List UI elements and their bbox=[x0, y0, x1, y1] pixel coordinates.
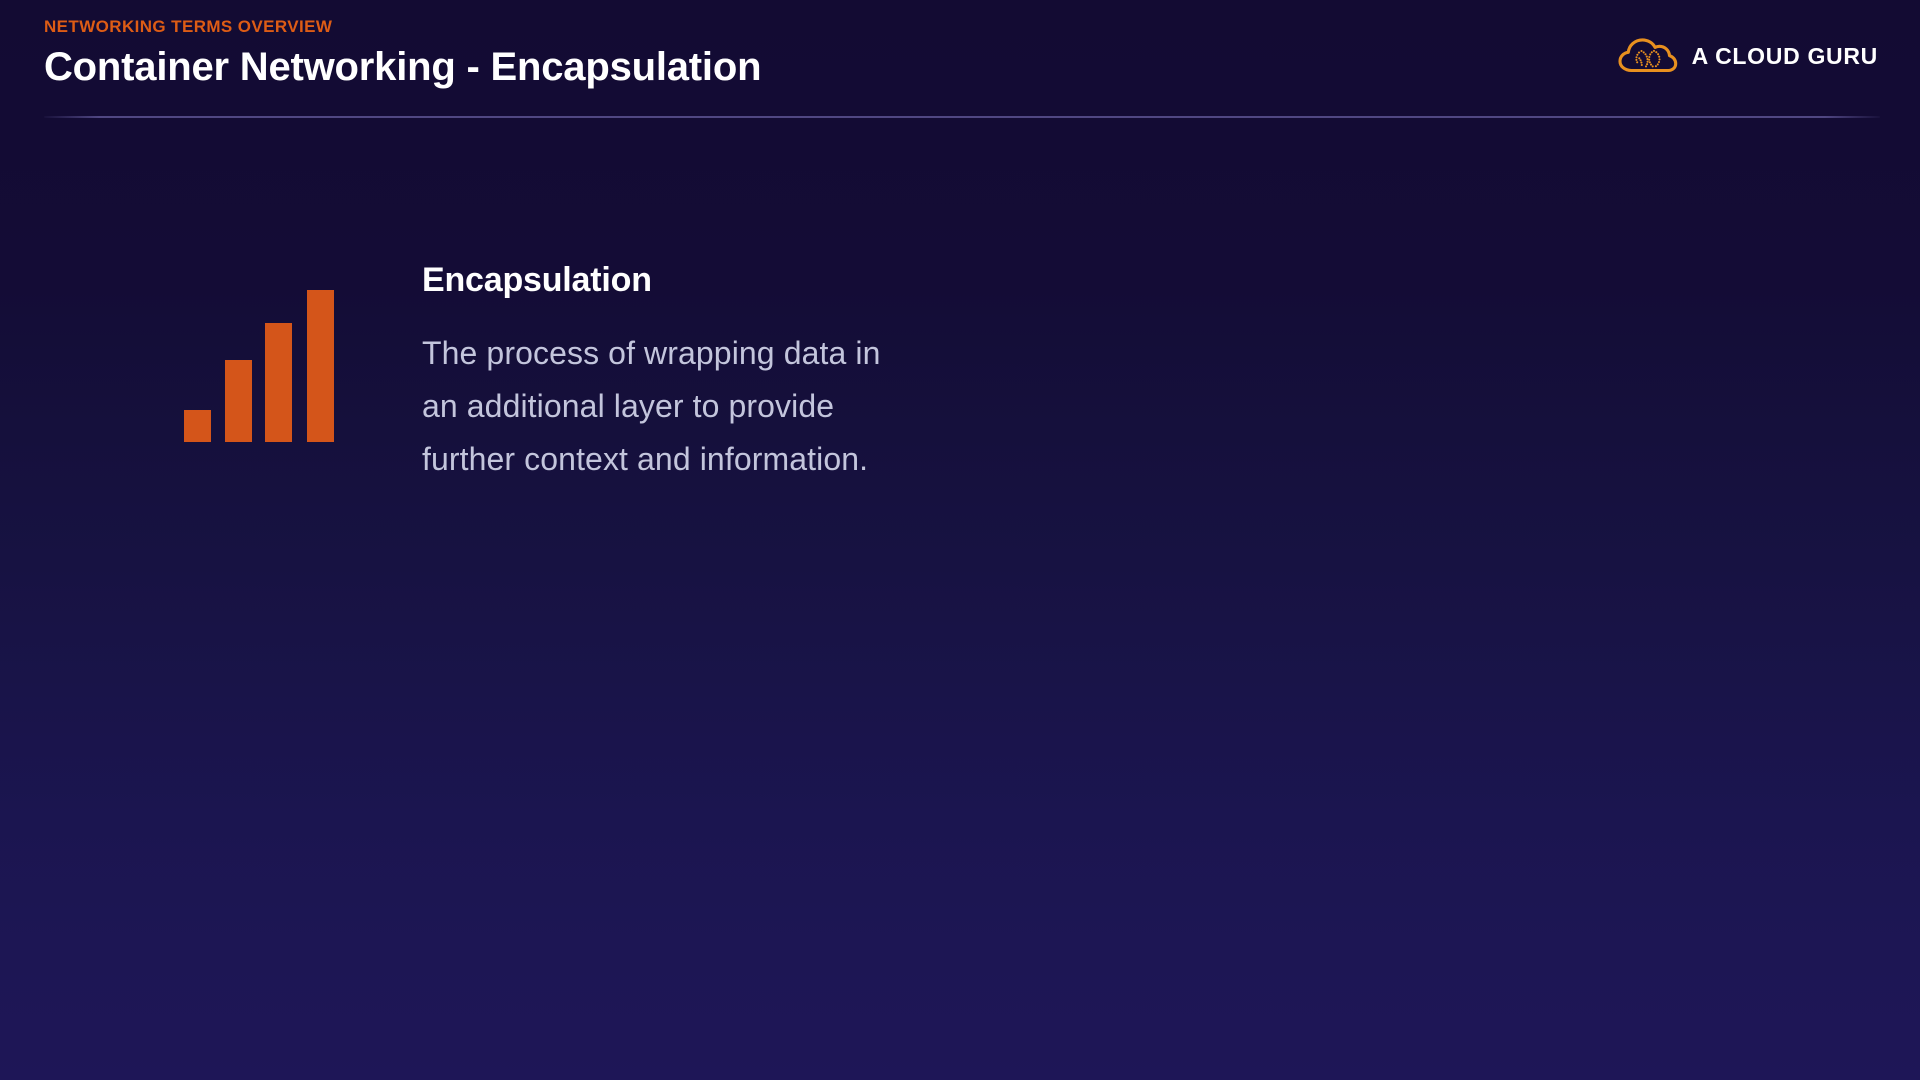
bar-chart-icon bbox=[184, 290, 334, 442]
term-definition-block: Encapsulation The process of wrapping da… bbox=[422, 260, 892, 486]
bar-chart-bar bbox=[307, 290, 334, 442]
slide-body: Encapsulation The process of wrapping da… bbox=[0, 0, 1920, 1080]
bar-chart-bar bbox=[265, 323, 292, 442]
bar-chart-bar bbox=[225, 360, 252, 442]
term-description: The process of wrapping data in an addit… bbox=[422, 327, 892, 486]
term-heading: Encapsulation bbox=[422, 260, 892, 301]
bar-chart-bar bbox=[184, 410, 211, 442]
